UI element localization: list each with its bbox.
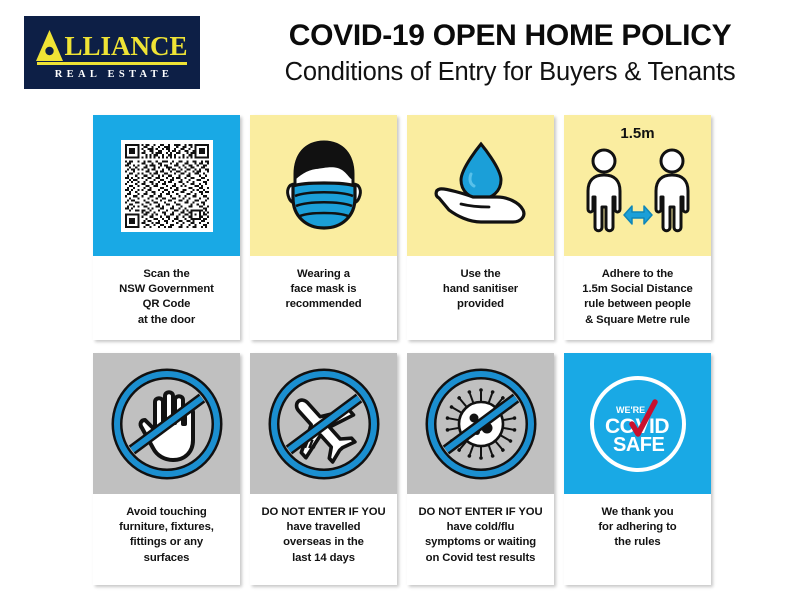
alliance-real-estate-logo: LLIANCE REAL ESTATE (24, 16, 200, 89)
double-arrow-icon (624, 206, 652, 224)
card-caption-social-distance: Adhere to the 1.5m Social Distance rule … (564, 256, 711, 340)
card-hand-sanitiser: Use the hand sanitiser provided (407, 115, 554, 340)
badge-line-were: WE'RE (616, 405, 645, 415)
card-no-travel: DO NOT ENTER IF YOU have travelled overs… (250, 353, 397, 585)
page-title: COVID-19 OPEN HOME POLICY (236, 18, 784, 54)
title-block: COVID-19 OPEN HOME POLICY Conditions of … (236, 18, 784, 88)
card-face-mask: Wearing a face mask is recommended (250, 115, 397, 340)
poster-page: LLIANCE REAL ESTATE COVID-19 OPEN HOME P… (0, 0, 800, 600)
card-media-no-travel (250, 353, 397, 494)
page-subtitle: Conditions of Entry for Buyers & Tenants (236, 56, 784, 88)
distance-label: 1.5m (564, 125, 711, 142)
card-caption-no-touching: Avoid touching furniture, fixtures, fitt… (93, 494, 240, 585)
card-caption-covid-safe: We thank you for adhering to the rules (564, 494, 711, 585)
hand-sanitiser-icon (431, 140, 531, 232)
card-social-distance: 1.5m Adhere to the 1.5m Social Distance … (564, 115, 711, 340)
header: LLIANCE REAL ESTATE COVID-19 OPEN HOME P… (0, 0, 800, 104)
card-media-qr-code (93, 115, 240, 256)
card-caption-qr-code: Scan the NSW Government QR Code at the d… (93, 256, 240, 340)
card-caption-face-mask: Wearing a face mask is recommended (250, 256, 397, 340)
card-no-touching: Avoid touching furniture, fixtures, fitt… (93, 353, 240, 585)
card-qr-code: Scan the NSW Government QR Code at the d… (93, 115, 240, 340)
no-virus-icon (425, 368, 537, 480)
face-mask-icon (280, 138, 368, 234)
card-media-hand-sanitiser (407, 115, 554, 256)
no-touching-hand-icon (111, 368, 223, 480)
card-media-no-symptoms (407, 353, 554, 494)
no-airplane-icon (268, 368, 380, 480)
card-caption-no-travel: DO NOT ENTER IF YOU have travelled overs… (250, 494, 397, 585)
qr-code-matrix (125, 144, 209, 228)
logo-brand-rest: LLIANCE (64, 32, 187, 61)
logo-letter-a-icon (36, 30, 63, 61)
qr-code-icon[interactable] (121, 140, 213, 232)
logo-wordmark: LLIANCE (36, 27, 187, 61)
social-distance-icon (578, 143, 698, 247)
badge-line-safe: SAFE (613, 434, 665, 456)
card-no-symptoms: DO NOT ENTER IF YOU have cold/flu sympto… (407, 353, 554, 585)
card-media-covid-safe: WE'RE COVID SAFE (564, 353, 711, 494)
card-covid-safe: WE'RE COVID SAFE We thank you for adheri… (564, 353, 711, 585)
logo-divider (37, 62, 187, 65)
card-media-face-mask (250, 115, 397, 256)
card-caption-no-symptoms: DO NOT ENTER IF YOU have cold/flu sympto… (407, 494, 554, 585)
card-media-social-distance: 1.5m (564, 115, 711, 256)
logo-subtitle: REAL ESTATE (51, 69, 173, 80)
policy-card-grid: Scan the NSW Government QR Code at the d… (93, 115, 711, 585)
covid-safe-badge-icon: WE'RE COVID SAFE (583, 369, 693, 479)
card-caption-hand-sanitiser: Use the hand sanitiser provided (407, 256, 554, 340)
card-media-no-touching (93, 353, 240, 494)
